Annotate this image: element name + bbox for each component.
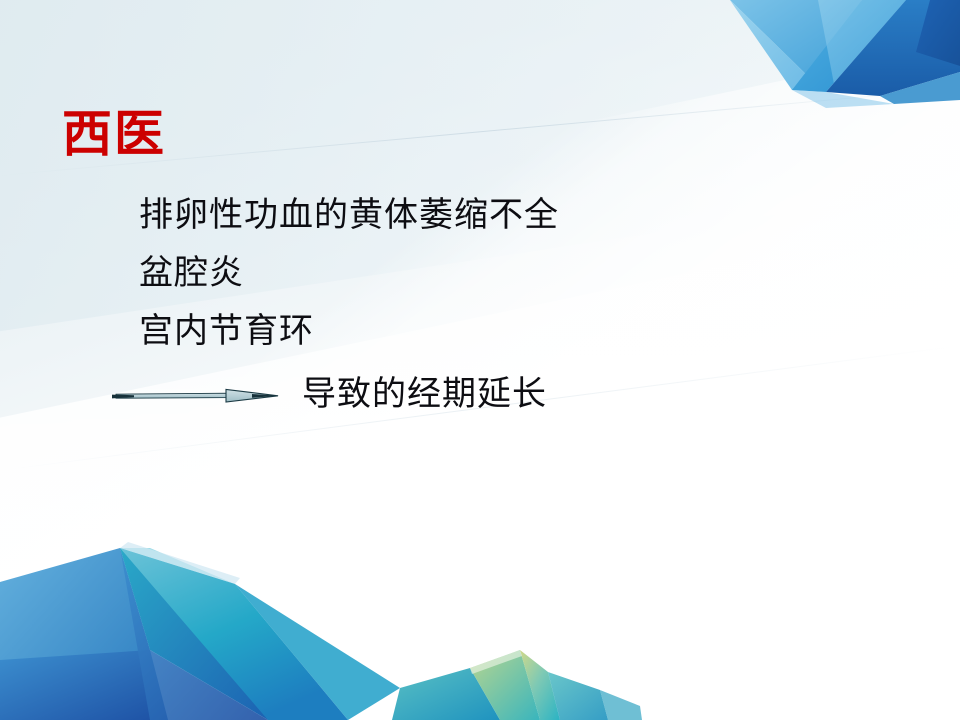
list-item: 宫内节育环 xyxy=(139,302,839,360)
list-item: 盆腔炎 xyxy=(139,244,839,302)
right-arrow-icon xyxy=(112,383,280,409)
conclusion-row: 导致的经期延长 xyxy=(112,372,812,420)
page-title: 西医 xyxy=(62,108,166,161)
list-item: 排卵性功血的黄体萎缩不全 xyxy=(139,186,839,244)
conclusion-text: 导致的经期延长 xyxy=(302,377,547,411)
bullet-list: 排卵性功血的黄体萎缩不全 盆腔炎 宫内节育环 xyxy=(139,186,839,360)
slide-canvas: 西医 排卵性功血的黄体萎缩不全 盆腔炎 宫内节育环 导致的经期延长 xyxy=(0,0,960,720)
